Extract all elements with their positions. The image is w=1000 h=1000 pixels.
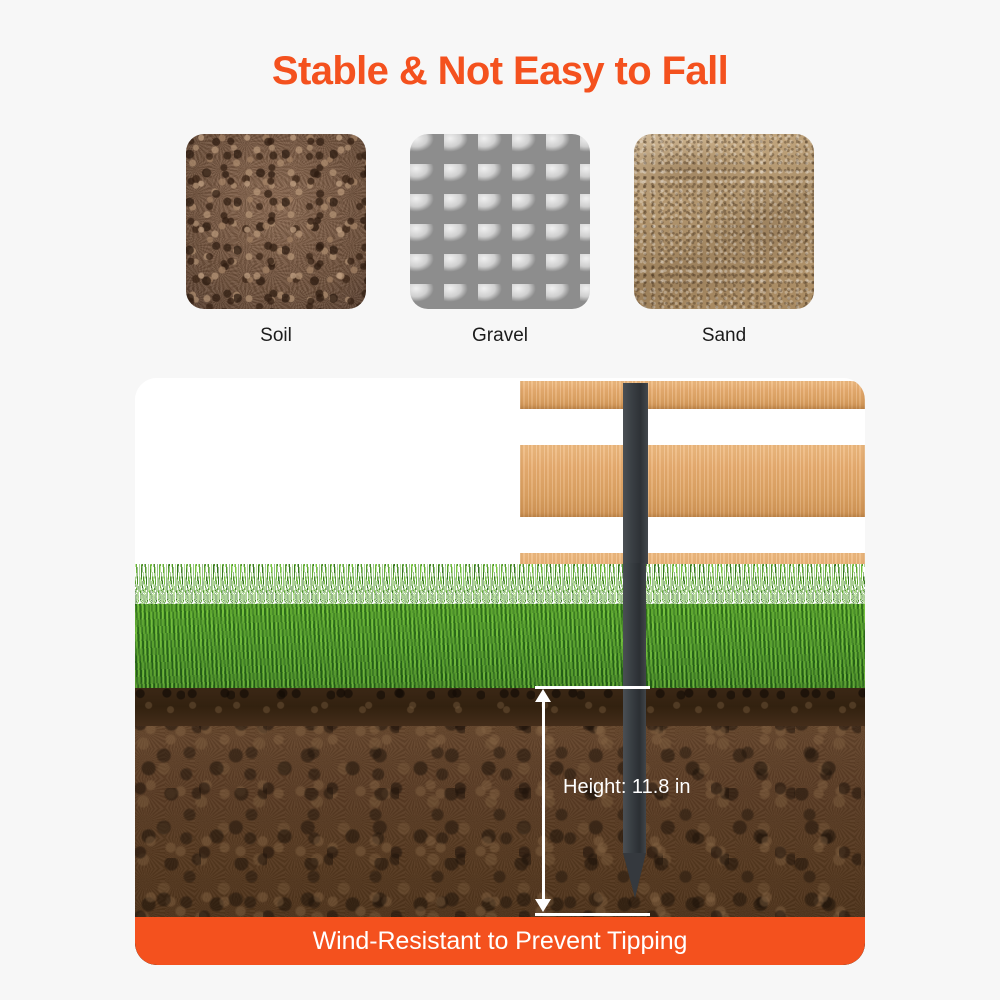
material-item-soil: Soil xyxy=(186,134,366,347)
grass-blade-fringe xyxy=(135,564,865,604)
infographic-page: Stable & Not Easy to Fall Soil Gravel Sa… xyxy=(0,0,1000,1000)
banner-text: Wind-Resistant to Prevent Tipping xyxy=(313,927,688,956)
ground-stake-shaft xyxy=(623,563,646,853)
page-title: Stable & Not Easy to Fall xyxy=(0,49,1000,94)
material-swatch-row: Soil Gravel Sand xyxy=(186,134,814,349)
material-item-gravel: Gravel xyxy=(410,134,590,347)
sand-texture-swatch xyxy=(634,134,814,309)
product-photo-card: Height: 11.8 in Wind-Resistant to Preven… xyxy=(135,378,865,965)
material-label-soil: Soil xyxy=(186,325,366,347)
ground-stake-tip xyxy=(623,853,646,898)
gravel-texture-swatch xyxy=(410,134,590,309)
material-item-sand: Sand xyxy=(634,134,814,347)
bottom-banner: Wind-Resistant to Prevent Tipping xyxy=(135,917,865,965)
fence-slat-top xyxy=(520,381,865,409)
fence-slat-middle xyxy=(520,445,865,517)
material-label-gravel: Gravel xyxy=(410,325,590,347)
soil-texture-swatch xyxy=(186,134,366,309)
material-label-sand: Sand xyxy=(634,325,814,347)
